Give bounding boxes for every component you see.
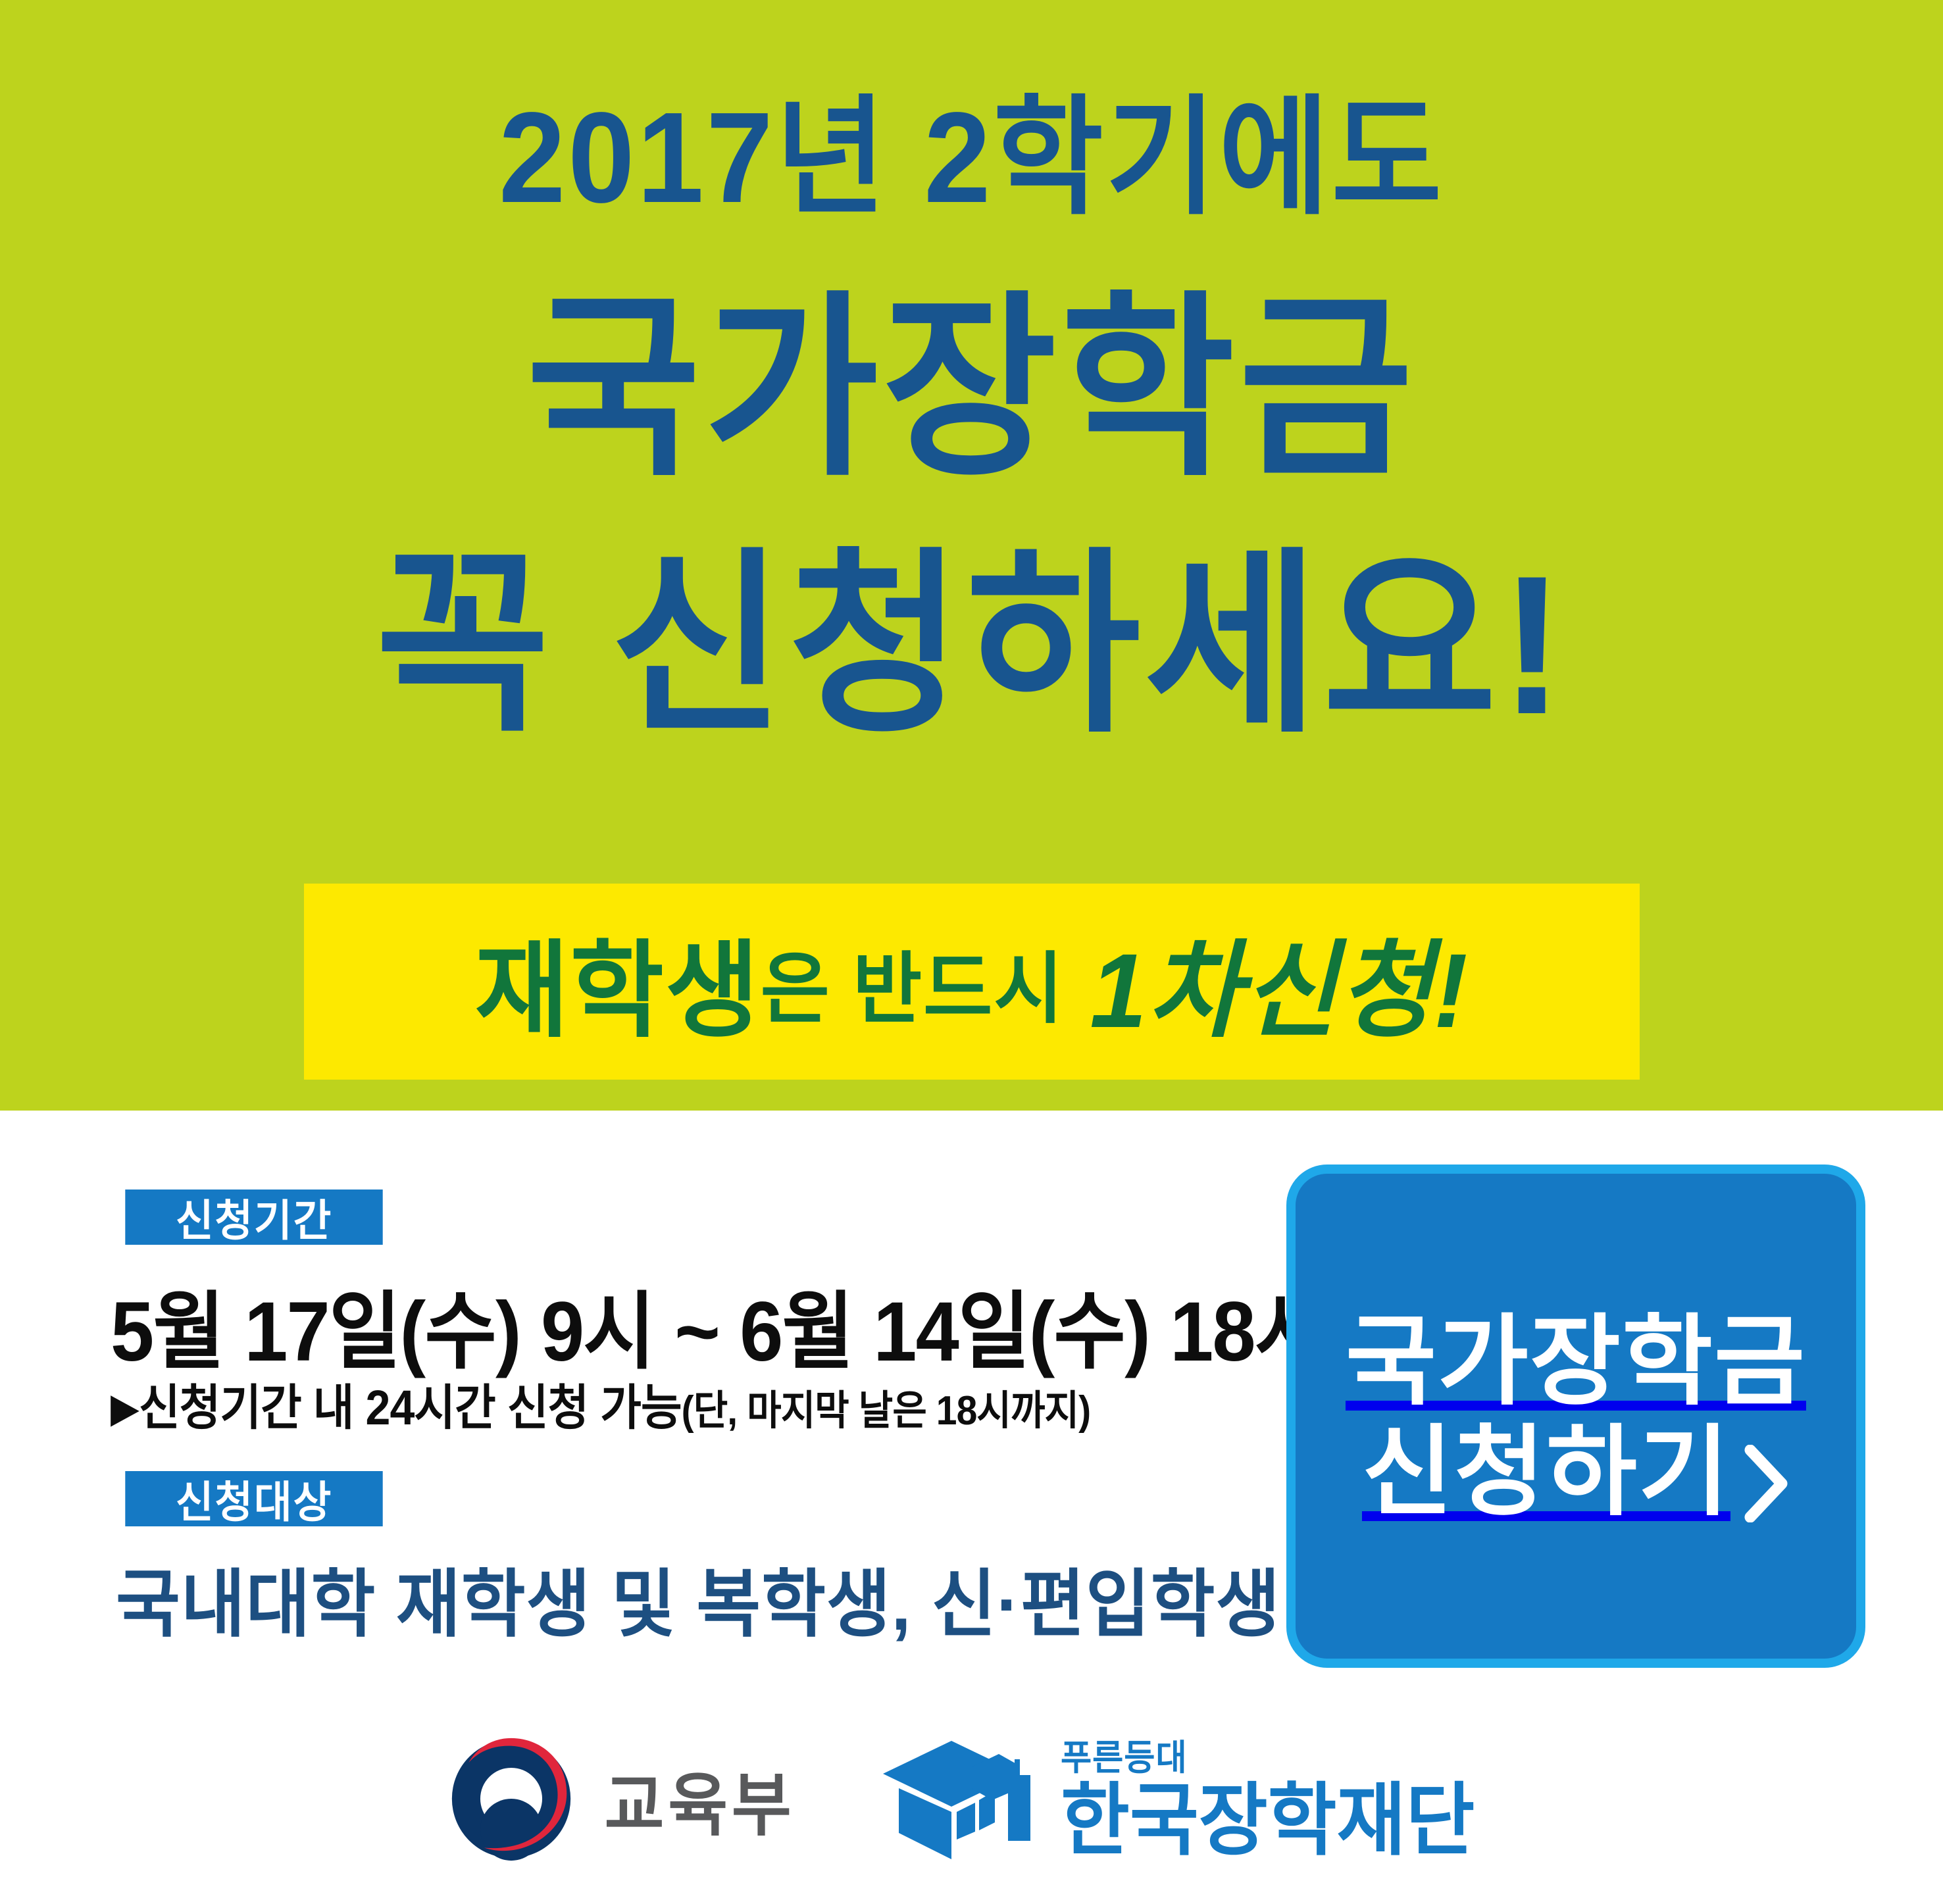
hero-headline-line2: 꼭 신청하세요! <box>39 546 1904 743</box>
cta-line-2: 신청하기 <box>1362 1416 1730 1527</box>
cta-line-1: 국가장학금 <box>1346 1306 1806 1416</box>
highlight-part-1: 재학생 <box>474 905 760 1058</box>
cta-line-2-row: 신청하기 <box>1362 1416 1790 1527</box>
hero-headline-line1: 국가장학금 <box>39 289 1904 487</box>
apply-scholarship-button[interactable]: 국가장학금 신청하기 <box>1286 1165 1865 1668</box>
chevron-right-icon <box>1744 1433 1790 1511</box>
ministry-of-education-logo: 교육부 <box>447 1734 800 1863</box>
ministry-of-education-name: 교육부 <box>604 1749 795 1849</box>
kosaf-name: 한국장학재단 <box>1061 1781 1475 1860</box>
application-period-note: ▶신청기간 내 24시간 신청 가능(단, 마지막 날은 18시까지) <box>111 1368 1090 1439</box>
badge-application-target: 신청대상 <box>125 1471 382 1526</box>
highlight-text: 재학생 은 반드시 1차신청! <box>324 884 1619 1080</box>
highlight-part-3: 반드시 <box>853 926 1065 1038</box>
hero-banner: 2017년 2학기에도 국가장학금 꼭 신청하세요! 재학생 은 반드시 1차신… <box>0 0 1943 1111</box>
badge-application-period: 신청기간 <box>125 1190 382 1245</box>
note-main-text: 신청기간 내 24시간 신청 가능 <box>139 1380 682 1435</box>
highlight-part-2: 은 <box>761 926 831 1038</box>
hero-kicker: 2017년 2학기에도 <box>68 93 1875 222</box>
application-target-value: 국내대학 재학생 및 복학생, 신·편입학생 <box>116 1545 1280 1651</box>
highlight-part-4: 1차신청! <box>1090 905 1469 1058</box>
highlight-band: 재학생 은 반드시 1차신청! <box>304 884 1640 1080</box>
kosaf-wordmark: 푸른등대 한국장학재단 <box>1061 1740 1496 1860</box>
footer-logos: 교육부 푸른등대 한국장학재단 <box>0 1724 1943 1904</box>
note-paren-text: (단, 마지막 날은 18시까지) <box>682 1388 1090 1434</box>
bullet-arrow-icon: ▶ <box>111 1386 139 1431</box>
application-period-value: 5월 17일(수) 9시 ~ 6월 14일(수) 18시 <box>111 1263 1325 1385</box>
korean-government-taegeuk-emblem-icon <box>447 1734 576 1863</box>
kosaf-logo: 푸른등대 한국장학재단 <box>879 1734 1496 1866</box>
graduation-cap-icon <box>879 1734 1044 1866</box>
kosaf-sub-brand: 푸른등대 <box>1061 1740 1475 1776</box>
